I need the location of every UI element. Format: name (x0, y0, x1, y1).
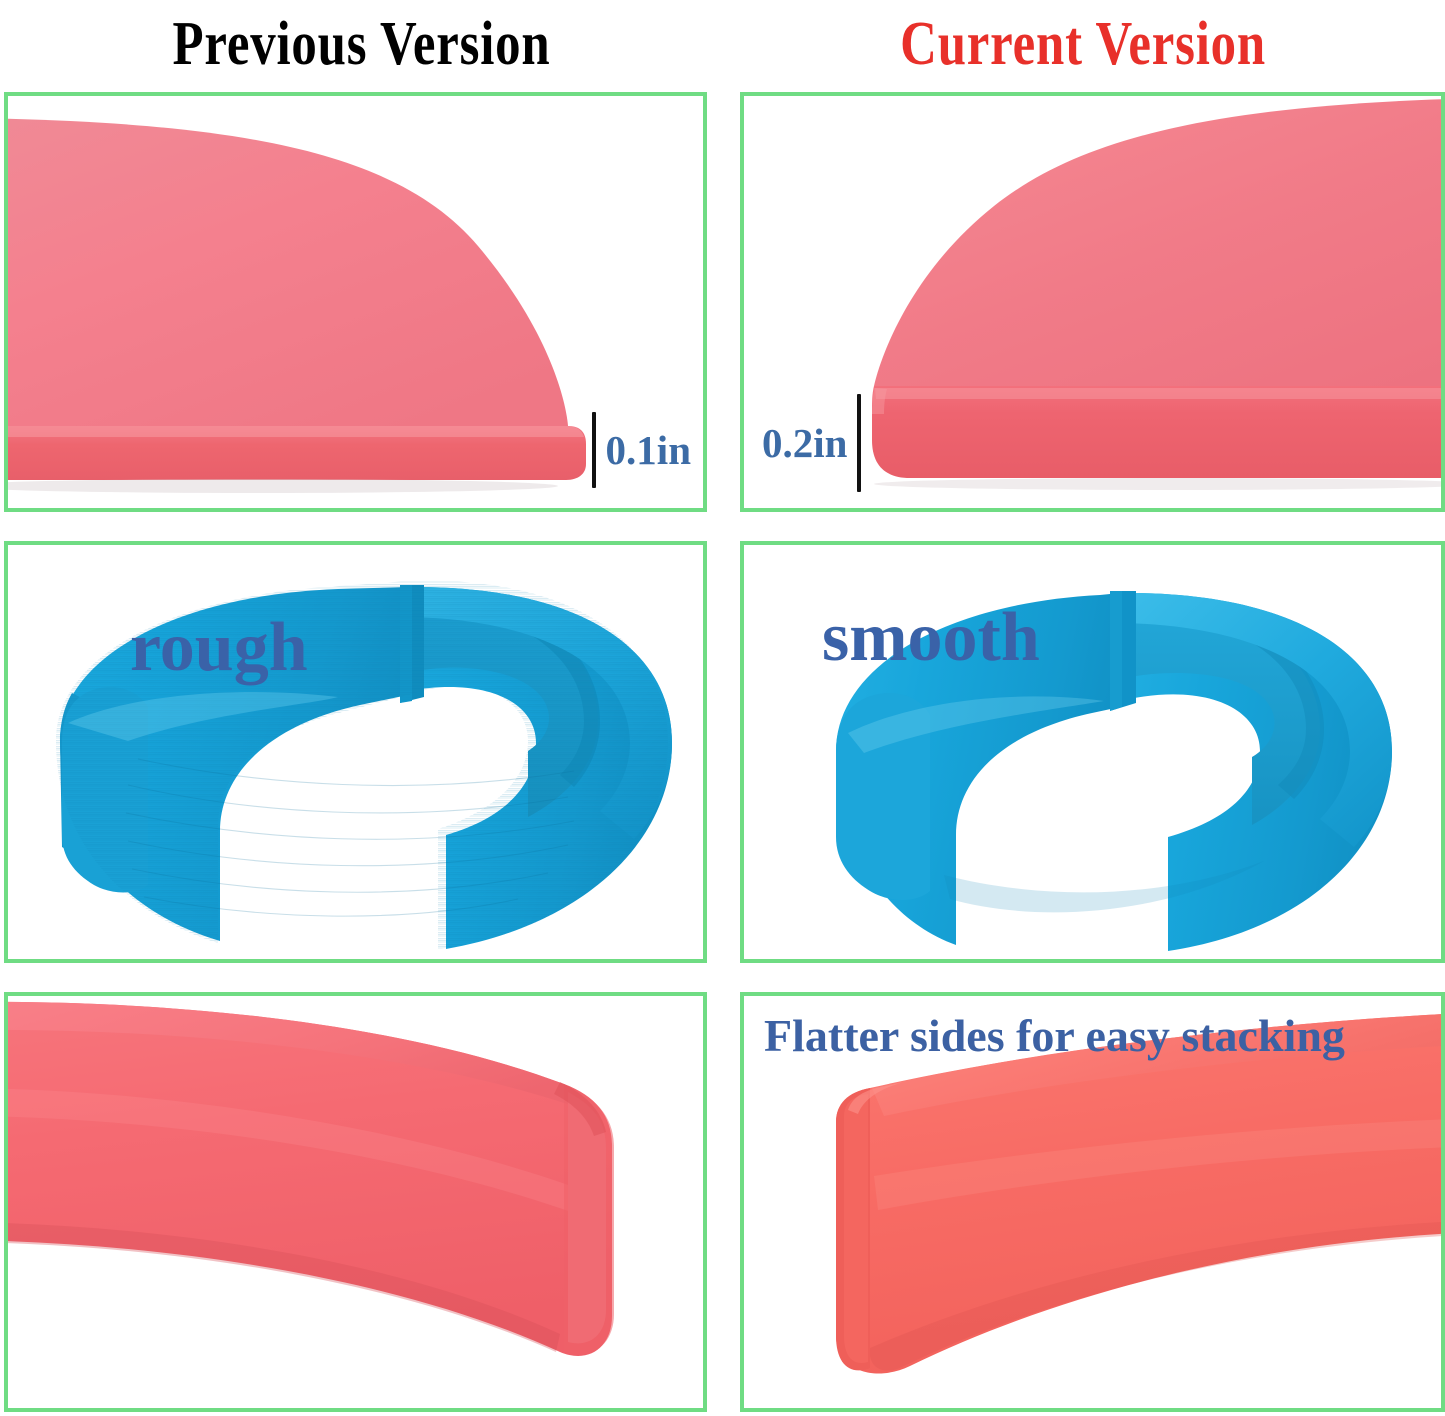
red-arch-band-previous-photo (8, 996, 703, 1408)
measure-label-current-thickness: 0.2in (762, 423, 847, 464)
texture-label-smooth: smooth (822, 603, 1040, 673)
comparison-grid: 0.1in (4, 92, 1441, 1412)
panel-previous-texture: rough (4, 541, 707, 963)
measurement-callout-previous: 0.1in (592, 412, 691, 488)
measure-tick-icon (592, 412, 596, 488)
panel-current-texture: smooth (740, 541, 1445, 963)
measure-label-previous-thickness: 0.1in (606, 430, 691, 471)
blue-arch-rough-photo (8, 545, 703, 959)
comparison-header: Previous Version Current Version (0, 0, 1445, 88)
previous-version-title: Previous Version (172, 13, 550, 75)
panel-previous-thickness: 0.1in (4, 92, 707, 512)
measurement-callout-current: 0.2in (762, 394, 861, 492)
panel-current-thickness: 0.2in (740, 92, 1445, 512)
panel-current-sides: Flatter sides for easy stacking (740, 992, 1445, 1412)
stacking-caption: Flatter sides for easy stacking (764, 1012, 1345, 1060)
panel-previous-sides (4, 992, 707, 1412)
header-cell-current: Current Version (722, 0, 1444, 88)
measure-tick-icon (857, 394, 861, 492)
current-version-title: Current Version (900, 13, 1266, 75)
texture-label-rough: rough (130, 613, 308, 683)
header-cell-previous: Previous Version (0, 0, 722, 88)
